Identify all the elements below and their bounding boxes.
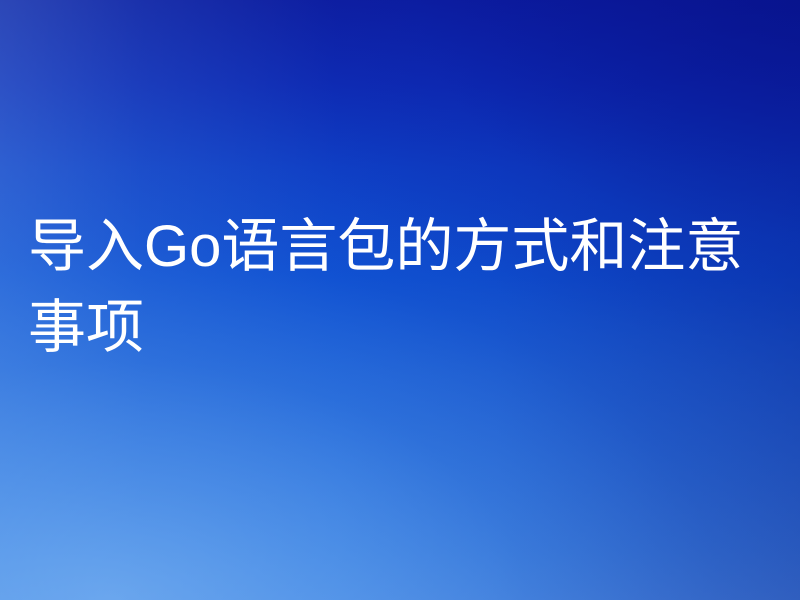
slide-title: 导入Go语言包的方式和注意事项 [28,206,780,368]
slide-canvas: 导入Go语言包的方式和注意事项 [0,0,800,600]
title-block: 导入Go语言包的方式和注意事项 [28,206,780,368]
